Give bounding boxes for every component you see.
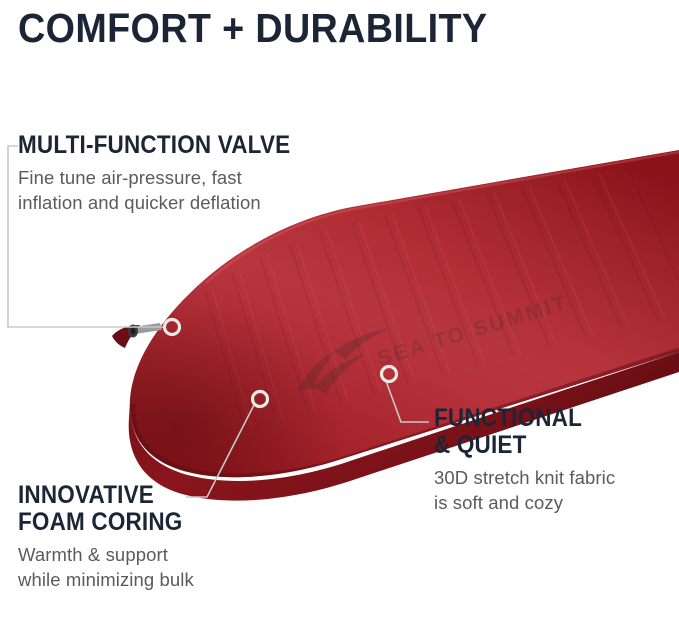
callout-heading-fabric-line2: & QUIET xyxy=(434,432,597,459)
callout-multi-function-valve: MULTI-FUNCTION VALVE Fine tune air-press… xyxy=(18,132,321,215)
callout-heading-foam-line1: INNOVATIVE xyxy=(18,482,182,509)
callout-body-valve: Fine tune air-pressure, fast inflation a… xyxy=(18,165,321,215)
product-feature-infographic: SEA TO SUMMIT COMFORT + DURABILITY MULTI… xyxy=(0,0,679,624)
page-title: COMFORT + DURABILITY xyxy=(18,5,487,51)
callout-heading-foam-line2: FOAM CORING xyxy=(18,509,182,536)
callout-functional-and-quiet: FUNCTIONAL & QUIET 30D stretch knit fabr… xyxy=(434,405,615,515)
callout-heading-fabric-line1: FUNCTIONAL xyxy=(434,405,597,432)
callout-heading-valve: MULTI-FUNCTION VALVE xyxy=(18,132,290,159)
callout-body-foam: Warmth & support while minimizing bulk xyxy=(18,542,201,592)
callout-innovative-foam-coring: INNOVATIVE FOAM CORING Warmth & support … xyxy=(18,482,201,592)
callout-body-fabric: 30D stretch knit fabric is soft and cozy xyxy=(434,465,615,515)
